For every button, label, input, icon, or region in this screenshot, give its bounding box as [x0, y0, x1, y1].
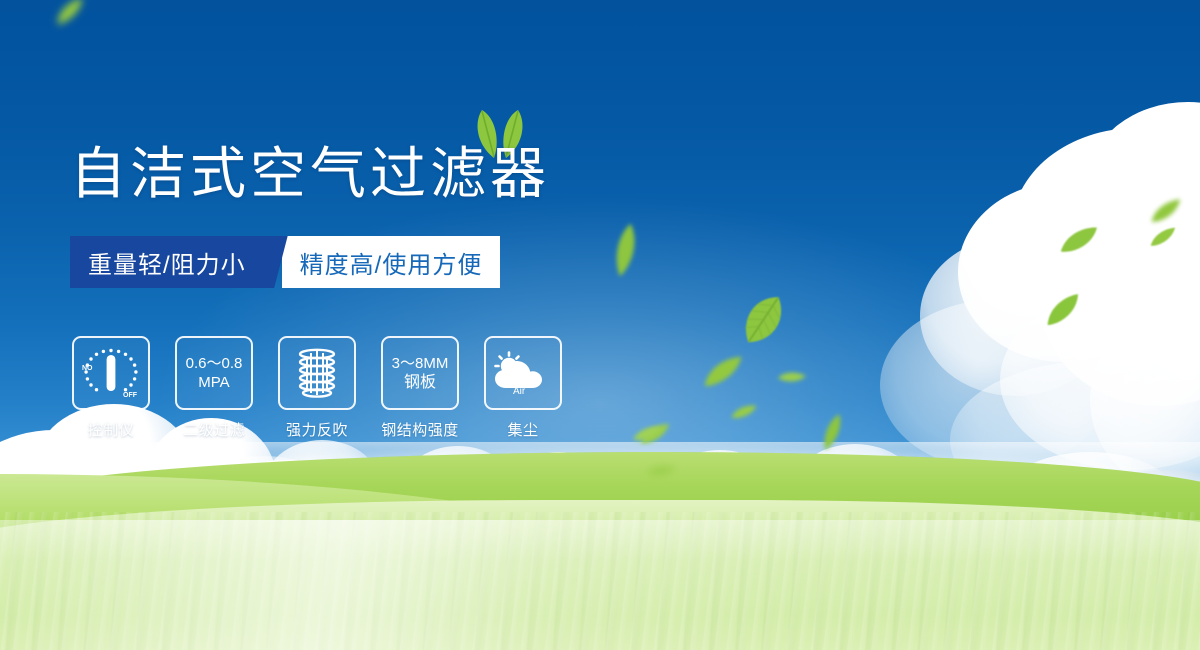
tagline-badge: 重量轻/阻力小 精度高/使用方便 [70, 236, 500, 288]
pressure-range-text: 0.6～0.8 [186, 354, 243, 373]
feature-icon-box [278, 336, 356, 410]
feature-item-dust-collection: Air 集尘 [482, 336, 564, 440]
feature-list: NO OFF 控制仪 0.6～0.8 MPA 二级过滤 [70, 336, 564, 440]
page-title: 自洁式空气过滤器 [70, 144, 550, 204]
feature-label: 二级过滤 [183, 419, 245, 440]
steel-plate-text: 钢板 [404, 373, 436, 392]
tagline-right: 精度高/使用方便 [282, 236, 501, 288]
feature-icon-box: Air [484, 336, 562, 410]
feature-item-strong-back-blow: 强力反吹 [276, 336, 358, 440]
banner-content: 自洁式空气过滤器 重量轻/阻力小 精度高/使用方便 [0, 0, 1200, 650]
tagline-left: 重量轻/阻力小 [70, 236, 262, 288]
gauge-dial-icon: NO OFF [79, 344, 143, 402]
feature-label: 钢结构强度 [381, 419, 459, 440]
feature-label: 控制仪 [88, 419, 135, 440]
air-label: Air [513, 386, 526, 394]
feature-item-controller: NO OFF 控制仪 [70, 336, 152, 440]
product-banner: 自洁式空气过滤器 重量轻/阻力小 精度高/使用方便 [0, 0, 1200, 650]
feature-item-steel-structure: 3～8MM 钢板 钢结构强度 [379, 336, 461, 440]
filter-cartridge-icon [289, 345, 345, 401]
feature-item-two-stage-filter: 0.6～0.8 MPA 二级过滤 [173, 336, 255, 440]
gauge-no-label: NO [82, 365, 93, 372]
pressure-unit-text: MPA [198, 373, 229, 392]
feature-label: 集尘 [507, 419, 538, 440]
feature-icon-box: 0.6～0.8 MPA [175, 336, 253, 410]
feature-label: 强力反吹 [286, 419, 348, 440]
gauge-off-label: OFF [123, 392, 138, 399]
steel-thickness-text: 3～8MM [392, 354, 449, 373]
feature-icon-box: 3～8MM 钢板 [381, 336, 459, 410]
cloud-sun-air-icon: Air [492, 350, 554, 394]
feature-icon-box: NO OFF [72, 336, 150, 410]
